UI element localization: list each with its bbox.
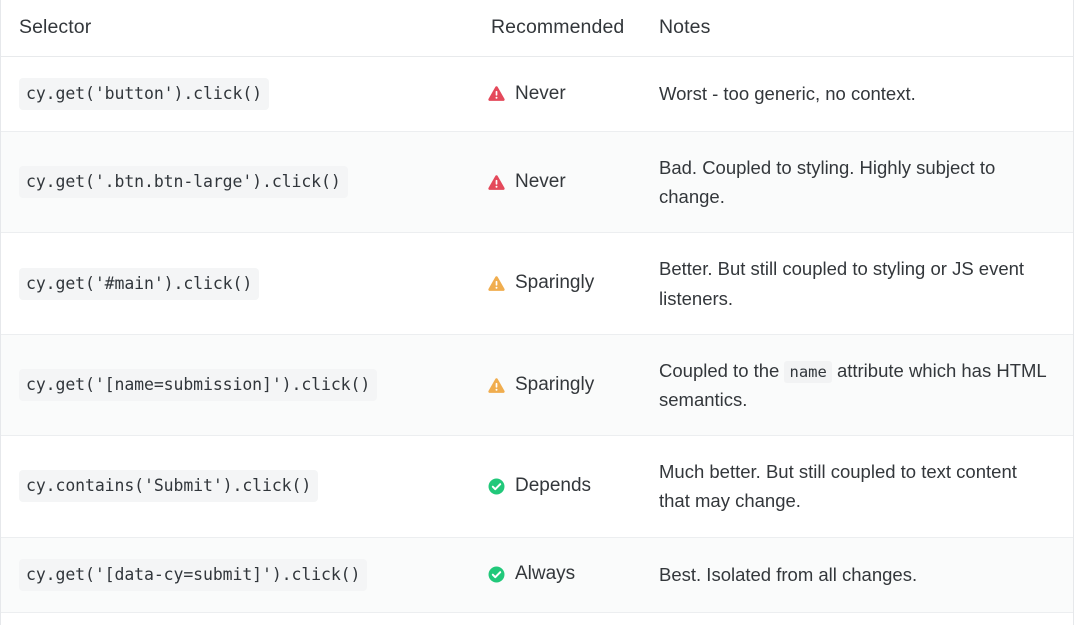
table-header: Selector Recommended Notes (1, 0, 1073, 57)
notes-text: Coupled to the name attribute which has … (659, 356, 1051, 414)
table-row: cy.contains('Submit').click()DependsMuch… (1, 436, 1073, 537)
selector-recommendation-table-container: Selector Recommended Notes cy.get('butto… (0, 0, 1074, 625)
notes-text-segment: Coupled to the (659, 360, 784, 381)
table-header-row: Selector Recommended Notes (1, 0, 1073, 57)
selector-code-snippet: cy.get('.btn.btn-large').click() (19, 166, 348, 198)
cell-recommended: Always (473, 537, 649, 612)
cell-notes: Much better. But still coupled to text c… (649, 436, 1073, 537)
cell-recommended: Never (473, 131, 649, 232)
selector-code-snippet: cy.get('#main').click() (19, 268, 259, 300)
cell-selector: cy.contains('Submit').click() (1, 436, 473, 537)
notes-text: Much better. But still coupled to text c… (659, 457, 1051, 515)
recommendation-label: Never (515, 83, 566, 106)
notes-text-segment: Worst - too generic, no context. (659, 83, 916, 104)
cell-selector: cy.get('.btn.btn-large').click() (1, 131, 473, 232)
cell-selector: cy.get('#main').click() (1, 233, 473, 334)
cell-recommended: Sparingly (473, 334, 649, 435)
column-header-selector: Selector (1, 0, 473, 57)
recommendation-badge: Sparingly (487, 374, 649, 397)
column-header-notes: Notes (649, 0, 1073, 57)
table-row: cy.get('button').click()NeverWorst - too… (1, 57, 1073, 132)
cell-selector: cy.get('[name=submission]').click() (1, 334, 473, 435)
cell-selector: cy.get('[data-cy=submit]').click() (1, 537, 473, 612)
warning-triangle-icon (487, 173, 506, 192)
cell-notes: Coupled to the name attribute which has … (649, 334, 1073, 435)
table-row: cy.get('[data-cy=submit]').click()Always… (1, 537, 1073, 612)
warning-triangle-icon (487, 376, 506, 395)
table-row: cy.get('[name=submission]').click()Spari… (1, 334, 1073, 435)
notes-text-segment: Better. But still coupled to styling or … (659, 258, 1024, 308)
column-header-recommended: Recommended (473, 0, 649, 57)
recommendation-label: Sparingly (515, 374, 594, 397)
recommendation-badge: Never (487, 171, 649, 194)
recommendation-label: Never (515, 171, 566, 194)
recommendation-badge: Always (487, 563, 649, 586)
recommendation-label: Always (515, 563, 575, 586)
recommendation-badge: Depends (487, 475, 649, 498)
cell-recommended: Depends (473, 436, 649, 537)
notes-text: Best. Isolated from all changes. (659, 560, 1051, 589)
warning-triangle-icon (487, 274, 506, 293)
notes-text-segment: Much better. But still coupled to text c… (659, 461, 1017, 511)
selector-recommendation-table: Selector Recommended Notes cy.get('butto… (1, 0, 1073, 613)
recommendation-label: Sparingly (515, 272, 594, 295)
inline-code-snippet: name (784, 361, 831, 383)
notes-text-segment: Bad. Coupled to styling. Highly subject … (659, 157, 995, 207)
notes-text: Worst - too generic, no context. (659, 79, 1051, 108)
cell-recommended: Never (473, 57, 649, 132)
cell-selector: cy.get('button').click() (1, 57, 473, 132)
recommendation-badge: Never (487, 83, 649, 106)
check-circle-icon (487, 565, 506, 584)
selector-code-snippet: cy.get('[data-cy=submit]').click() (19, 559, 367, 591)
notes-text-segment: Best. Isolated from all changes. (659, 564, 917, 585)
cell-notes: Worst - too generic, no context. (649, 57, 1073, 132)
notes-text: Bad. Coupled to styling. Highly subject … (659, 153, 1051, 211)
selector-code-snippet: cy.contains('Submit').click() (19, 470, 318, 502)
notes-text: Better. But still coupled to styling or … (659, 254, 1051, 312)
cell-notes: Better. But still coupled to styling or … (649, 233, 1073, 334)
recommendation-badge: Sparingly (487, 272, 649, 295)
table-body: cy.get('button').click()NeverWorst - too… (1, 57, 1073, 613)
cell-recommended: Sparingly (473, 233, 649, 334)
selector-code-snippet: cy.get('[name=submission]').click() (19, 369, 377, 401)
cell-notes: Bad. Coupled to styling. Highly subject … (649, 131, 1073, 232)
check-circle-icon (487, 477, 506, 496)
warning-triangle-icon (487, 84, 506, 103)
table-row: cy.get('#main').click()SparinglyBetter. … (1, 233, 1073, 334)
table-row: cy.get('.btn.btn-large').click()NeverBad… (1, 131, 1073, 232)
cell-notes: Best. Isolated from all changes. (649, 537, 1073, 612)
selector-code-snippet: cy.get('button').click() (19, 78, 269, 110)
recommendation-label: Depends (515, 475, 591, 498)
